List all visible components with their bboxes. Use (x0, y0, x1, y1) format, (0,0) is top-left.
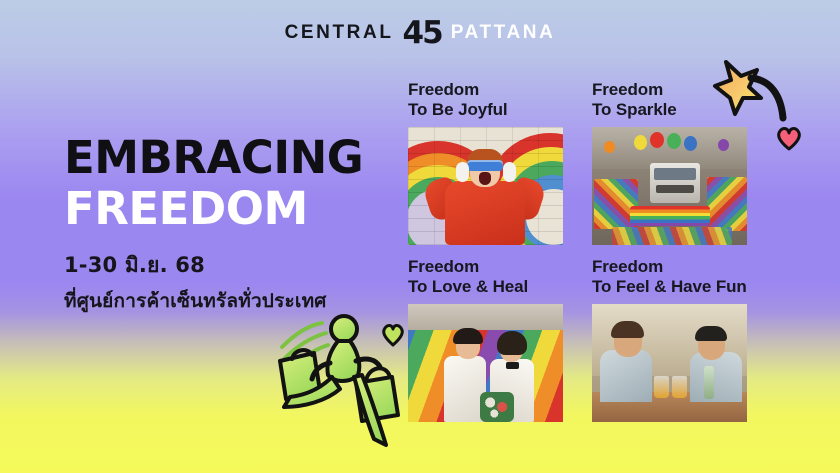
freedom-pillars-grid: Freedom To Be Joyful (408, 80, 747, 422)
headphone-cup-left (456, 162, 469, 182)
person-open-mouth (479, 172, 491, 185)
parade-truck-grille (656, 185, 694, 193)
partner-left-hair (453, 328, 483, 344)
drink-glass-right (672, 376, 687, 398)
love-balloon-o (650, 132, 664, 148)
balloon-extra-2 (718, 139, 729, 151)
pillar-photo-joyful: Person in red denim jacket with headphon… (408, 127, 563, 245)
brand-pattana-text: PATTANA (451, 23, 556, 42)
friend-right-body (690, 352, 742, 402)
person-sunglasses (467, 160, 503, 171)
pillar-label-line2: To Feel & Have Fun (592, 277, 747, 297)
wedding-bouquet (480, 392, 514, 422)
pillar-label-line1: Freedom (408, 80, 479, 99)
love-balloon-e (684, 136, 697, 151)
runner-head (331, 316, 357, 342)
partner-right-hair (497, 331, 527, 355)
headphone-cup-right (503, 162, 516, 182)
pillar-photo-love: Couple in white suits embracing with a b… (408, 304, 563, 422)
person-red-jacket (445, 181, 525, 245)
title-line-freedom: FREEDOM (64, 185, 394, 232)
pillar-label-line1: Freedom (408, 257, 479, 276)
pillar-label-love: Freedom To Love & Heal (408, 257, 563, 297)
pillar-photo-sparkle: Pride parade crowd with rainbow flags, L… (592, 127, 747, 245)
friend-left-body (600, 350, 652, 402)
pillar-label-line1: Freedom (592, 80, 663, 99)
love-balloon-v (667, 133, 681, 149)
poster-canvas: CENTRAL 45 PATTANA EMBRACING FREEDOM 1-3… (0, 0, 840, 473)
shooting-star-icon (705, 58, 791, 128)
crowd-cluster-bottom (612, 227, 732, 245)
headline-block: EMBRACING FREEDOM 1-30 มิ.ย. 68 ที่ศูนย์… (64, 136, 394, 316)
balloon-extra-1 (604, 141, 615, 153)
pillar-card-fun: Freedom To Feel & Have Fun Two men smili… (592, 257, 747, 422)
heart-icon-pink (775, 125, 803, 151)
love-balloon-l (634, 135, 647, 150)
pillar-label-line1: Freedom (592, 257, 663, 276)
campaign-date: 1-30 มิ.ย. 68 (64, 249, 394, 282)
pillar-photo-fun: Two men smiling and clinking drink glass… (592, 304, 747, 422)
parade-rainbow-banner (630, 206, 710, 226)
crowd-cluster-right (707, 177, 747, 231)
pillar-label-joyful: Freedom To Be Joyful (408, 80, 563, 120)
parade-truck-windshield (654, 168, 696, 180)
title-line-embracing: EMBRACING (64, 136, 394, 180)
friend-left-hair (611, 321, 644, 338)
brand-45-mark: 45 (403, 18, 442, 49)
crosswalk-background (408, 304, 563, 330)
drink-glass-left (654, 376, 669, 398)
brand-central-text: CENTRAL (285, 23, 394, 42)
running-shopper-icon (268, 305, 423, 467)
brand-logo: CENTRAL 45 PATTANA (0, 17, 840, 48)
pillar-card-joyful: Freedom To Be Joyful (408, 80, 563, 245)
friend-right-hair (695, 326, 727, 341)
partner-right-bowtie (506, 362, 519, 369)
pillar-label-line2: To Be Joyful (408, 100, 563, 120)
pillar-label-fun: Freedom To Feel & Have Fun (592, 257, 747, 297)
drink-bottle (704, 366, 714, 399)
pillar-label-line2: To Love & Heal (408, 277, 563, 297)
pillar-card-love: Freedom To Love & Heal Couple in white s… (408, 257, 563, 422)
